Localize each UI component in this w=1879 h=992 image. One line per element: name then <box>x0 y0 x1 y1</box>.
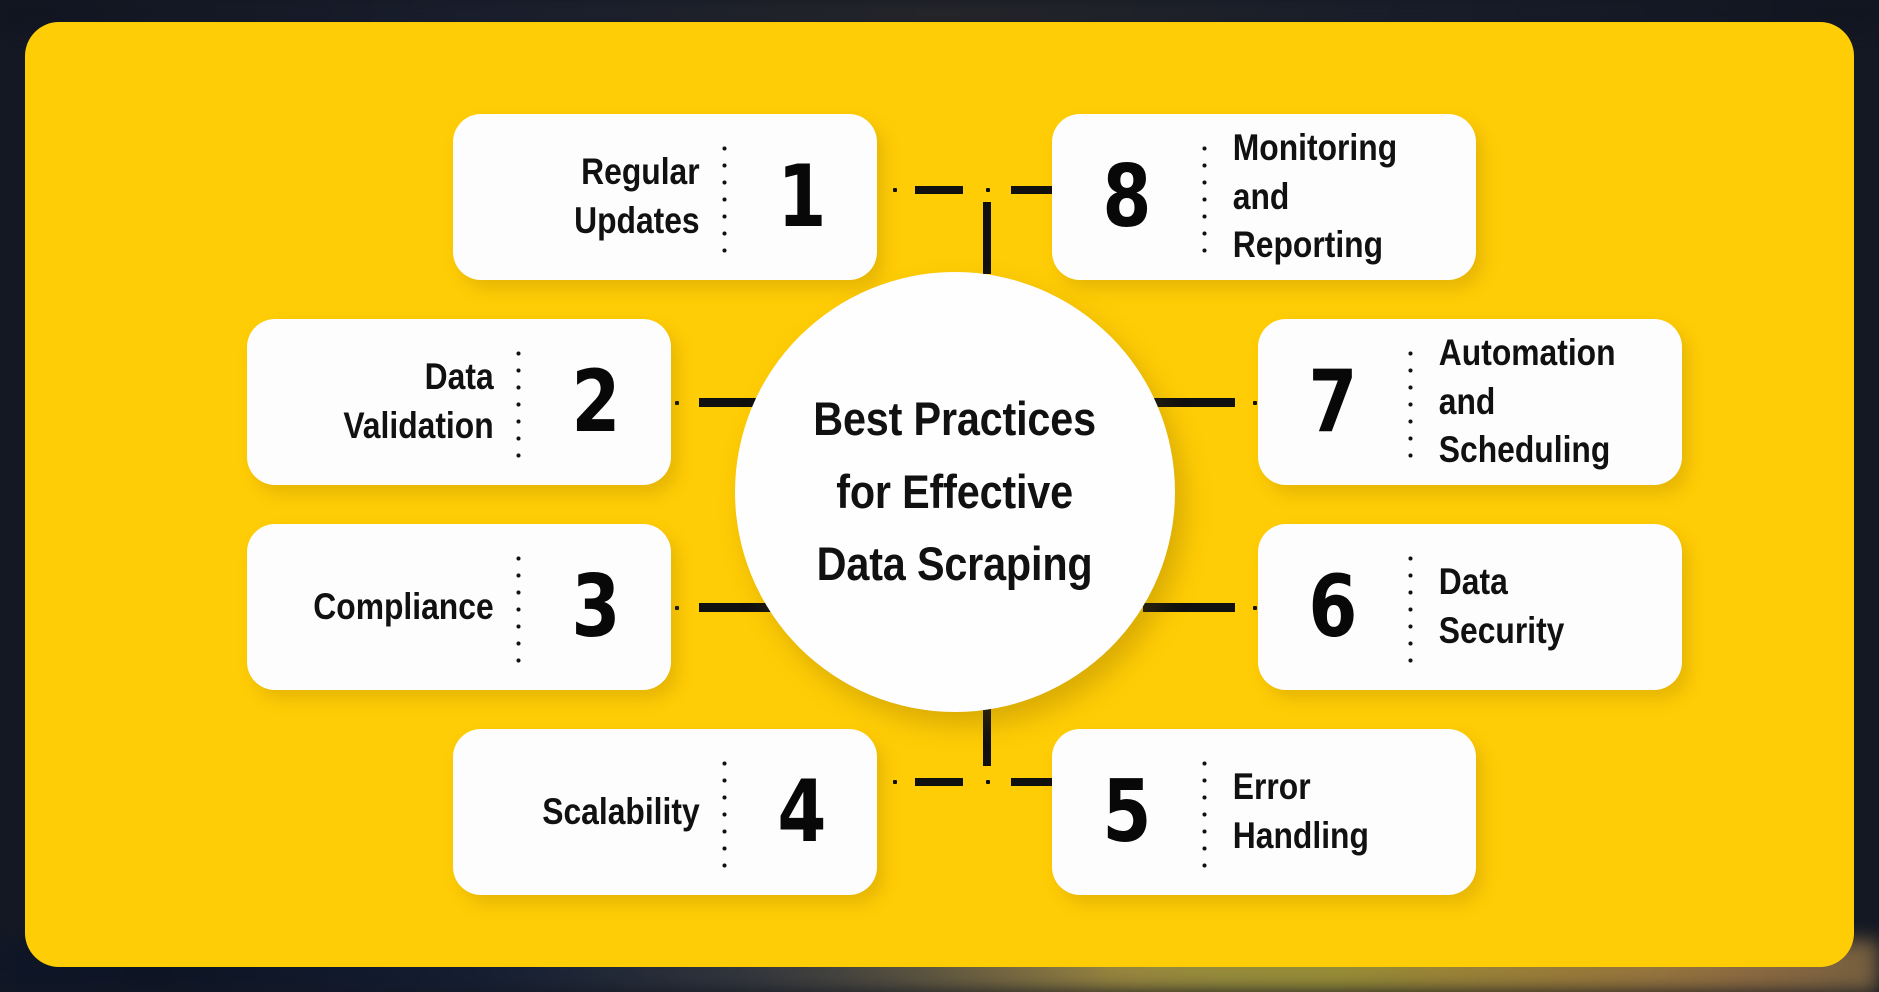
practice-number-wrap: 4 <box>727 769 877 855</box>
practice-label: Scalability <box>491 788 722 837</box>
practice-card-4[interactable]: Scalability4 <box>453 729 877 895</box>
practice-card-1[interactable]: Regular Updates1 <box>453 114 877 280</box>
connector-right-lower <box>1143 601 1258 615</box>
practice-number: 4 <box>777 769 826 855</box>
practice-card-8[interactable]: 8Monitoring and Reporting <box>1052 114 1476 280</box>
practice-number-wrap: 5 <box>1052 769 1202 855</box>
practice-number: 1 <box>777 154 826 240</box>
hub-title: Best Practices for Effective Data Scrapi… <box>814 383 1097 602</box>
practice-number-wrap: 2 <box>521 359 671 445</box>
practice-number-wrap: 8 <box>1052 154 1202 240</box>
practice-number: 3 <box>571 564 620 650</box>
practice-label: Data Security <box>1413 558 1644 656</box>
practice-card-5[interactable]: 5Error Handling <box>1052 729 1476 895</box>
practice-number-wrap: 3 <box>521 564 671 650</box>
practice-label: Regular Updates <box>491 148 722 246</box>
practice-number-wrap: 7 <box>1258 359 1408 445</box>
practice-label: Data Validation <box>285 353 516 451</box>
center-hub: Best Practices for Effective Data Scrapi… <box>735 272 1175 712</box>
practice-number: 2 <box>571 359 620 445</box>
practice-label: Error Handling <box>1207 763 1438 861</box>
practice-number-wrap: 6 <box>1258 564 1408 650</box>
practice-label: Monitoring and Reporting <box>1207 124 1438 270</box>
practice-label: Compliance <box>285 583 516 632</box>
infographic-panel: Best Practices for Effective Data Scrapi… <box>25 22 1854 967</box>
practice-card-6[interactable]: 6Data Security <box>1258 524 1682 690</box>
practice-card-2[interactable]: Data Validation2 <box>247 319 671 485</box>
connector-right-upper <box>1143 396 1258 410</box>
practice-label: Automation and Scheduling <box>1413 329 1644 475</box>
practice-card-3[interactable]: Compliance3 <box>247 524 671 690</box>
practice-number: 5 <box>1102 769 1151 855</box>
practice-number: 7 <box>1308 359 1357 445</box>
practice-number-wrap: 1 <box>727 154 877 240</box>
practice-card-7[interactable]: 7Automation and Scheduling <box>1258 319 1682 485</box>
practice-number: 6 <box>1308 564 1357 650</box>
practice-number: 8 <box>1102 154 1151 240</box>
